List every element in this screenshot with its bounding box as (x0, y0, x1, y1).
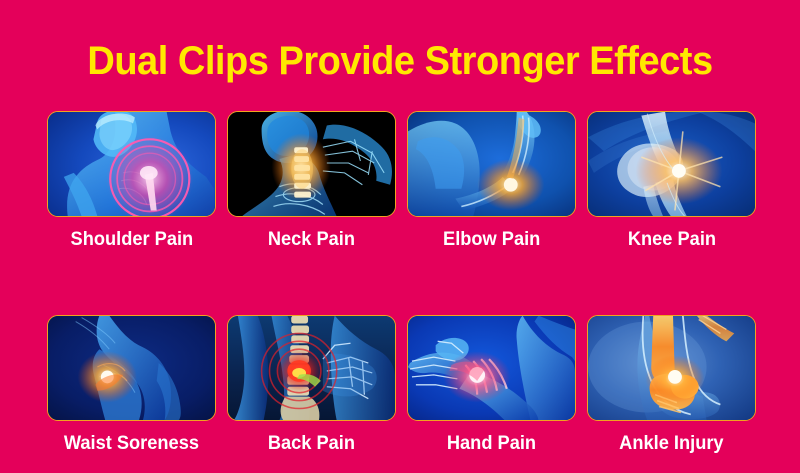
elbow-pain-xray-icon (408, 112, 575, 216)
pain-area-label: Ankle Injury (619, 433, 723, 455)
pain-area-cell-neck[interactable]: Neck Pain (227, 111, 396, 251)
promo-banner: Dual Clips Provide Stronger Effects (0, 0, 800, 473)
elbow-pain-card[interactable] (407, 111, 576, 217)
pain-area-label: Waist Soreness (64, 433, 199, 455)
pain-area-cell-ankle[interactable]: Ankle Injury (587, 315, 756, 455)
knee-pain-card[interactable] (587, 111, 756, 217)
knee-pain-xray-icon (588, 112, 755, 216)
hand-pain-card[interactable] (407, 315, 576, 421)
shoulder-pain-xray-icon (48, 112, 215, 216)
pain-area-cell-knee[interactable]: Knee Pain (587, 111, 756, 251)
pain-area-label: Shoulder Pain (70, 229, 193, 251)
ankle-injury-card[interactable] (587, 315, 756, 421)
back-pain-card[interactable] (227, 315, 396, 421)
neck-pain-xray-icon (228, 112, 395, 216)
pain-area-label: Hand Pain (447, 433, 536, 455)
pain-area-label: Neck Pain (268, 229, 355, 251)
pain-area-cell-waist[interactable]: Waist Soreness (47, 315, 216, 455)
hand-pain-xray-icon (408, 316, 575, 420)
waist-soreness-xray-icon (48, 316, 215, 420)
page-title: Dual Clips Provide Stronger Effects (20, 38, 780, 84)
back-pain-xray-icon (228, 316, 395, 420)
pain-area-cell-back[interactable]: Back Pain (227, 315, 396, 455)
waist-soreness-card[interactable] (47, 315, 216, 421)
pain-area-row: Shoulder Pain (47, 111, 753, 251)
pain-area-cell-elbow[interactable]: Elbow Pain (407, 111, 576, 251)
pain-area-label: Back Pain (268, 433, 355, 455)
pain-area-row: Waist Soreness (47, 315, 753, 455)
pain-area-cell-shoulder[interactable]: Shoulder Pain (47, 111, 216, 251)
pain-area-label: Knee Pain (627, 229, 715, 251)
shoulder-pain-card[interactable] (47, 111, 216, 217)
neck-pain-card[interactable] (227, 111, 396, 217)
ankle-injury-xray-icon (588, 316, 755, 420)
pain-area-label: Elbow Pain (443, 229, 540, 251)
pain-area-cell-hand[interactable]: Hand Pain (407, 315, 576, 455)
pain-area-grid: Shoulder Pain (47, 111, 753, 455)
